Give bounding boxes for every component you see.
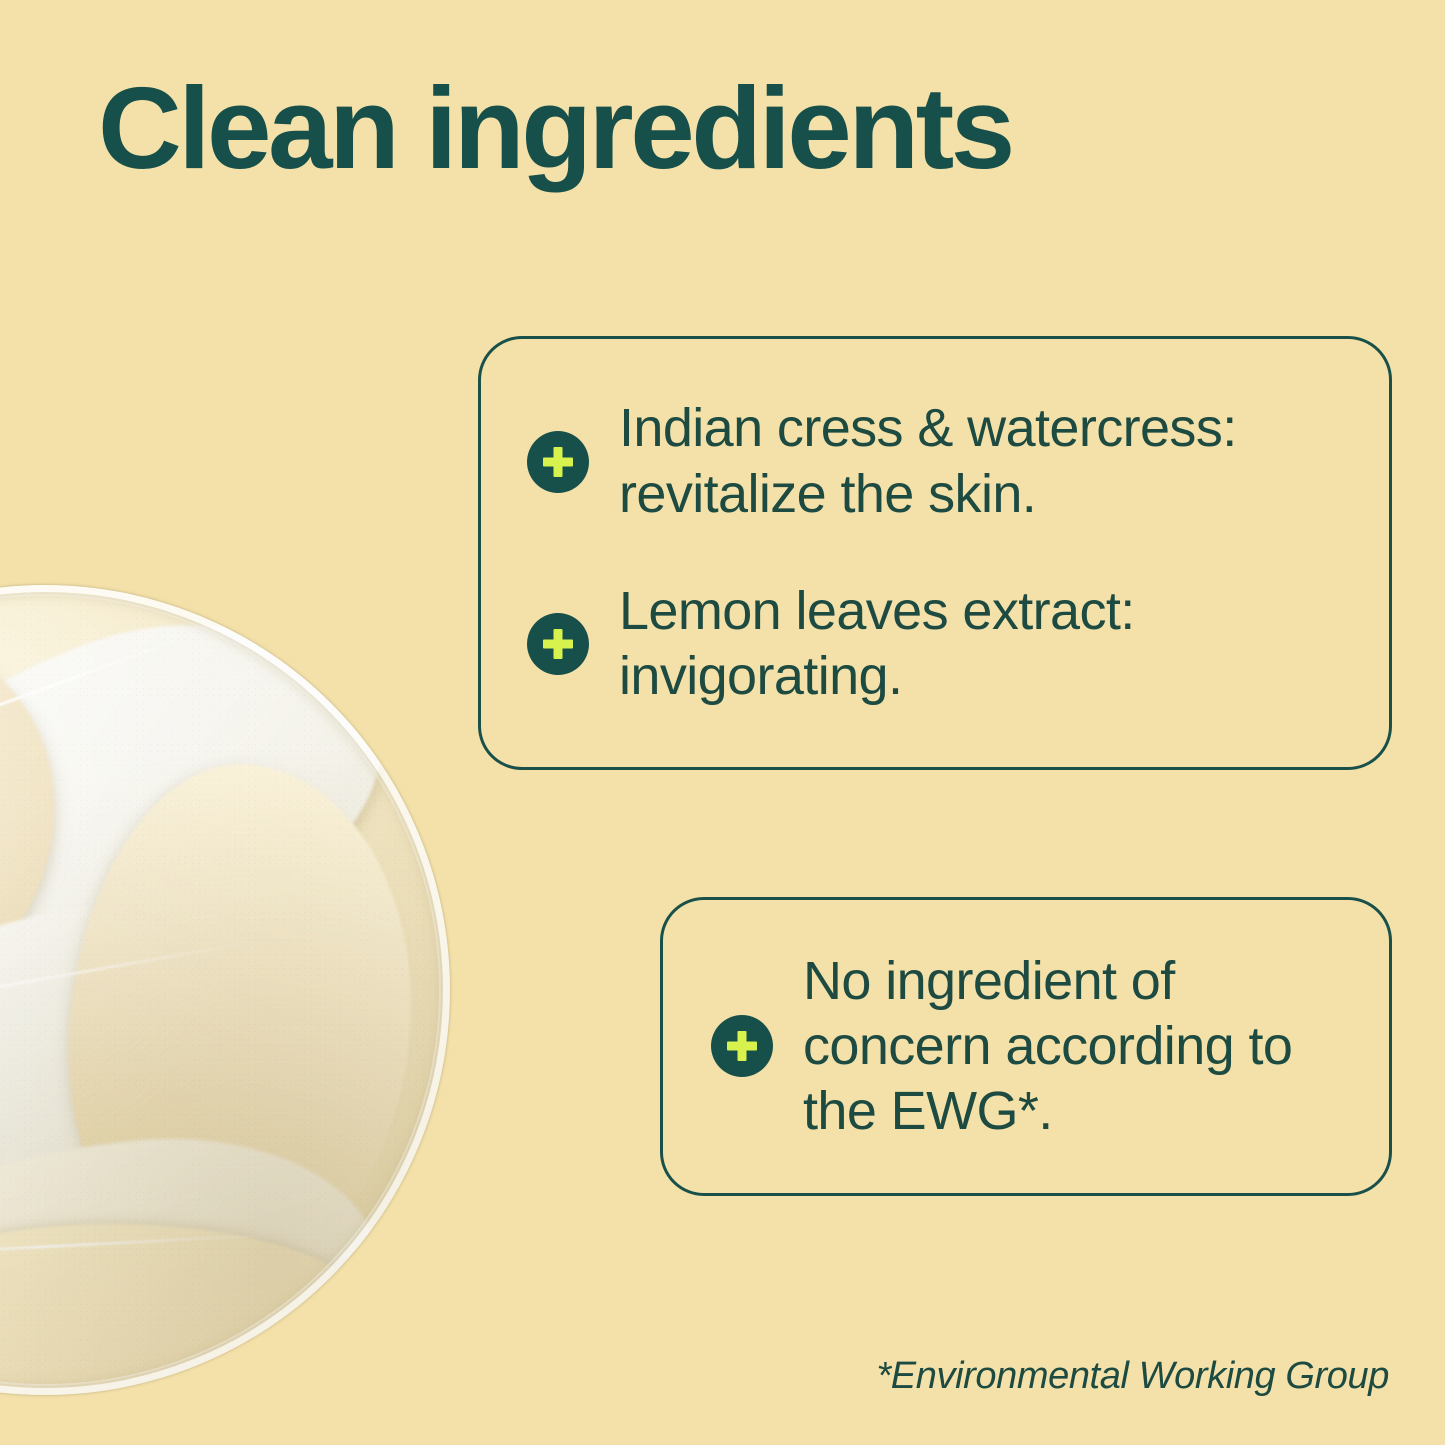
list-item-label: Indian cress & watercress: revitalize th…	[619, 396, 1349, 527]
list-item: No ingredient of concern according to th…	[711, 949, 1355, 1145]
list-item-label: No ingredient of concern according to th…	[803, 949, 1355, 1145]
plus-icon	[527, 431, 589, 493]
list-item-label: Lemon leaves extract: invigorating.	[619, 579, 1349, 710]
plus-icon	[527, 613, 589, 675]
product-photo-cream-jar	[0, 585, 450, 1395]
list-item: Lemon leaves extract: invigorating.	[527, 579, 1349, 710]
infographic-canvas: Clean ingredients Indian cress & watercr…	[0, 0, 1445, 1445]
footnote-text: *Environmental Working Group	[876, 1355, 1389, 1398]
list-item: Indian cress & watercress: revitalize th…	[527, 396, 1349, 527]
card-ewg-claim: No ingredient of concern according to th…	[660, 897, 1392, 1196]
page-title: Clean ingredients	[98, 66, 1012, 191]
plus-icon	[711, 1015, 773, 1077]
card-ingredients: Indian cress & watercress: revitalize th…	[478, 336, 1392, 770]
